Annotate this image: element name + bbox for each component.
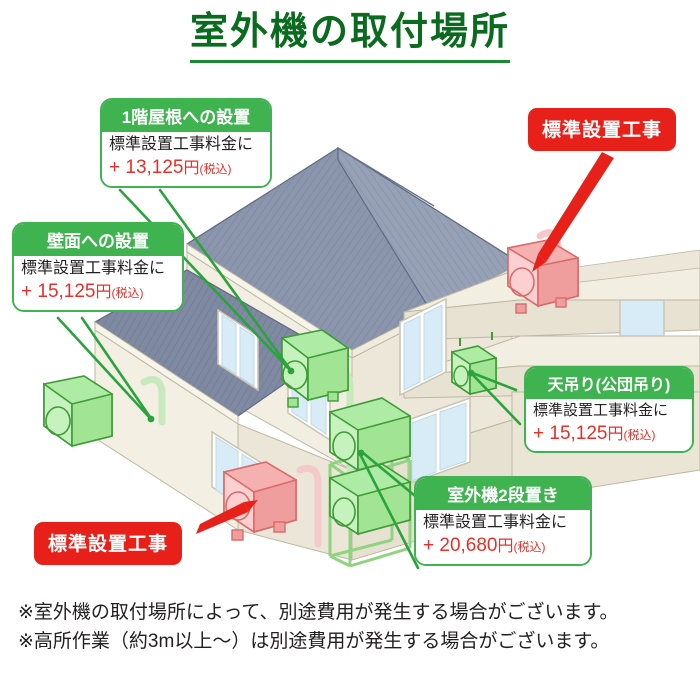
footer-notes: ※室外機の取付場所によって、別途費用が発生する場合がございます。 ※高所作業（約… bbox=[18, 598, 690, 657]
footer-note-2: ※高所作業（約3m以上〜）は別途費用が発生する場合がございます。 bbox=[18, 627, 690, 656]
plus-sign: + bbox=[533, 423, 544, 444]
callout-roof-1f-body: 標準設置工事料金に + 13,125円(税込) bbox=[102, 132, 270, 186]
badge-standard-bottom[interactable]: 標準設置工事 bbox=[34, 522, 182, 565]
callout-roof-1f-header: 1階屋根への設置 bbox=[102, 100, 270, 132]
callout-wall[interactable]: 壁面への設置 標準設置工事料金に + 15,125円(税込) bbox=[12, 222, 184, 312]
callout-roof-1f-line1: 標準設置工事料金に bbox=[109, 135, 263, 155]
callout-wall-body: 標準設置工事料金に + 15,125円(税込) bbox=[14, 256, 182, 310]
callout-ceiling-hang-body: 標準設置工事料金に + 15,125円(税込) bbox=[526, 399, 692, 451]
amount: 15,125 bbox=[549, 423, 607, 444]
callout-roof-1f-price: + 13,125円(税込) bbox=[109, 156, 263, 181]
badge-standard-top[interactable]: 標準設置工事 bbox=[528, 108, 676, 151]
footer-note-1: ※室外機の取付場所によって、別途費用が発生する場合がございます。 bbox=[18, 598, 690, 627]
yen-unit: 円 bbox=[608, 426, 624, 443]
callout-ceiling-hang-price: + 15,125円(税込) bbox=[533, 422, 685, 447]
amount: 20,680 bbox=[439, 535, 497, 556]
plus-sign: + bbox=[423, 535, 434, 556]
callout-two-tier-line1: 標準設置工事料金に bbox=[423, 513, 583, 533]
callout-roof-1f[interactable]: 1階屋根への設置 標準設置工事料金に + 13,125円(税込) bbox=[100, 98, 272, 188]
tax-note: (税込) bbox=[624, 428, 656, 442]
arrow-standard-top bbox=[532, 152, 614, 272]
tax-note: (税込) bbox=[514, 540, 546, 554]
callout-wall-price: + 15,125円(税込) bbox=[21, 280, 175, 305]
callout-ceiling-hang[interactable]: 天吊り(公団吊り) 標準設置工事料金に + 15,125円(税込) bbox=[524, 366, 694, 453]
callout-ceiling-hang-line1: 標準設置工事料金に bbox=[533, 402, 685, 421]
callout-two-tier[interactable]: 室外機2段置き 標準設置工事料金に + 20,680円(税込) bbox=[414, 476, 592, 566]
amount: 15,125 bbox=[37, 281, 95, 302]
callout-ceiling-hang-header: 天吊り(公団吊り) bbox=[526, 368, 692, 399]
outdoor-unit-wall-mount bbox=[44, 376, 112, 446]
callout-wall-header: 壁面への設置 bbox=[14, 224, 182, 256]
window-right-edge bbox=[620, 300, 664, 336]
yen-unit: 円 bbox=[498, 538, 514, 555]
plus-sign: + bbox=[21, 281, 32, 302]
infographic-root: 室外機の取付場所 bbox=[0, 0, 700, 700]
callout-two-tier-body: 標準設置工事料金に + 20,680円(税込) bbox=[416, 510, 590, 564]
callout-two-tier-header: 室外機2段置き bbox=[416, 478, 590, 510]
tax-note: (税込) bbox=[200, 162, 232, 176]
yen-unit: 円 bbox=[184, 160, 200, 177]
tax-note: (税込) bbox=[112, 286, 144, 300]
callout-wall-line1: 標準設置工事料金に bbox=[21, 259, 175, 279]
plus-sign: + bbox=[109, 157, 120, 178]
callout-two-tier-price: + 20,680円(税込) bbox=[423, 534, 583, 559]
amount: 13,125 bbox=[125, 157, 183, 178]
yen-unit: 円 bbox=[96, 284, 112, 301]
